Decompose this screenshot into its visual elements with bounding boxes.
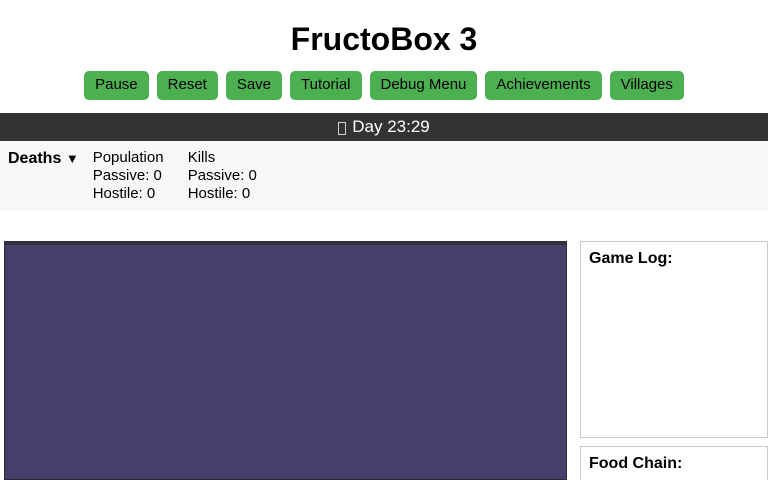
save-button[interactable]: Save (226, 71, 282, 100)
kills-heading: Kills (188, 149, 308, 167)
debug-menu-button[interactable]: Debug Menu (370, 71, 478, 100)
deaths-toggle[interactable]: Deaths ▼ (0, 149, 93, 168)
chevron-down-icon: ▼ (66, 151, 79, 166)
population-hostile: Hostile: 0 (93, 185, 188, 203)
deaths-label: Deaths (8, 150, 61, 167)
kills-hostile: Hostile: 0 (188, 185, 308, 203)
food-chain-panel: Food Chain: (580, 446, 768, 480)
achievements-button[interactable]: Achievements (485, 71, 601, 100)
population-column: Population Passive: 0 Hostile: 0 (93, 149, 188, 203)
reset-button[interactable]: Reset (157, 71, 218, 100)
kills-column: Kills Passive: 0 Hostile: 0 (188, 149, 308, 203)
day-status-bar: Day 23:29 (0, 113, 768, 141)
tutorial-button[interactable]: Tutorial (290, 71, 361, 100)
stats-panel: Deaths ▼ Population Passive: 0 Hostile: … (0, 141, 768, 211)
day-cycle-icon (338, 122, 346, 135)
page-title: FructoBox 3 (0, 0, 768, 58)
food-chain-entries[interactable] (581, 473, 767, 480)
population-heading: Population (93, 149, 188, 167)
population-passive: Passive: 0 (93, 167, 188, 185)
kills-passive: Passive: 0 (188, 167, 308, 185)
main-area: Game Log: Food Chain: (0, 240, 768, 480)
food-chain-title: Food Chain: (581, 447, 767, 473)
game-log-title: Game Log: (581, 242, 767, 268)
villages-button[interactable]: Villages (610, 71, 684, 100)
day-counter-label: Day 23:29 (352, 113, 430, 141)
game-log-entries[interactable] (581, 268, 767, 433)
pause-button[interactable]: Pause (84, 71, 149, 100)
main-toolbar: Pause Reset Save Tutorial Debug Menu Ach… (0, 71, 768, 100)
side-column: Game Log: Food Chain: (580, 241, 768, 480)
game-canvas[interactable] (4, 241, 567, 480)
app-root: FructoBox 3 Pause Reset Save Tutorial De… (0, 0, 768, 480)
game-log-panel: Game Log: (580, 241, 768, 438)
